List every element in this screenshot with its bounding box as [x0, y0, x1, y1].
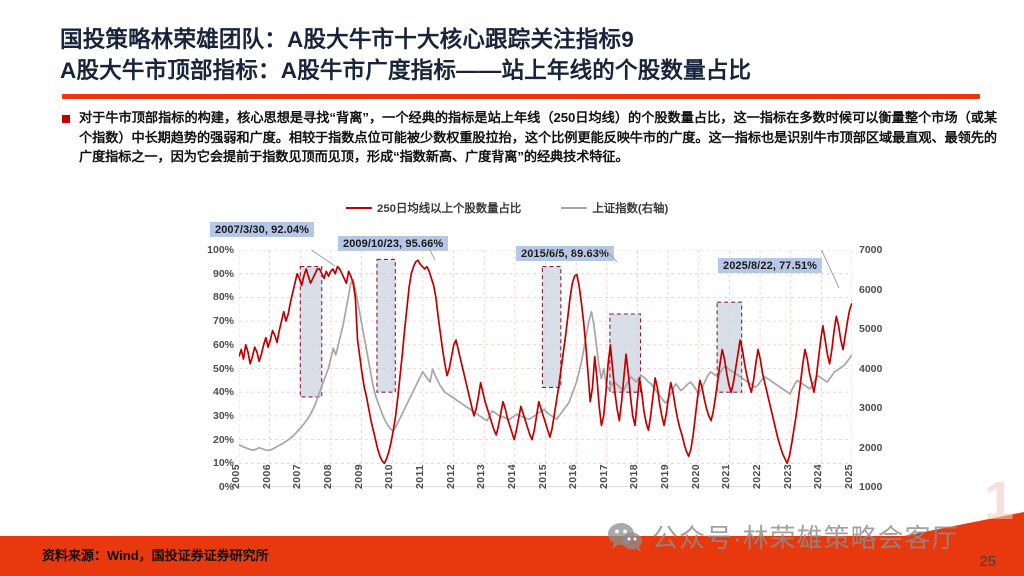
highlight-box [300, 267, 321, 397]
x-axis-tick: 2005 [230, 464, 242, 489]
chart-plot-area: 100%90%80%70%60%50%40%30%20%10%0% 700060… [239, 250, 852, 487]
page-title: 国投策略林荣雄团队：A股大牛市十大核心跟踪关注指标9 A股大牛市顶部指标：A股牛… [60, 24, 990, 86]
x-axis-tick: 2019 [659, 464, 671, 489]
right-axis-tick: 4000 [852, 363, 882, 375]
slide-root: 国投策略林荣雄团队：A股大牛市十大核心跟踪关注指标9 A股大牛市顶部指标：A股牛… [0, 0, 1024, 576]
x-axis-tick: 2013 [475, 464, 487, 489]
left-axis-tick: 70% [213, 315, 239, 327]
legend-label-ratio: 250日均线以上个股数量占比 [377, 200, 521, 216]
x-axis-tick: 2024 [812, 464, 824, 489]
x-axis-tick: 2010 [383, 464, 395, 489]
x-axis-tick: 2020 [690, 464, 702, 489]
right-axis-tick: 7000 [852, 244, 882, 256]
x-axis-tick: 2007 [291, 464, 303, 489]
source-note: 资料来源：Wind，国投证券证券研究所 [42, 545, 269, 564]
title-line-2: A股大牛市顶部指标：A股牛市广度指标——站上年线的个股数量占比 [60, 55, 990, 86]
x-axis-tick: 2014 [506, 464, 518, 489]
page-number: 25 [979, 553, 996, 570]
x-axis-tick: 2023 [782, 464, 794, 489]
highlight-box [542, 267, 560, 388]
x-axis-tick: 2017 [598, 464, 610, 489]
chart-legend: 250日均线以上个股数量占比 上证指数(右轴) [346, 200, 668, 216]
left-axis-tick: 60% [213, 339, 239, 351]
x-axis-tick: 2016 [567, 464, 579, 489]
legend-swatch-gray-icon [561, 207, 587, 210]
x-axis-tick: 2012 [445, 464, 457, 489]
right-axis-tick: 2000 [852, 442, 882, 454]
x-axis-tick: 2022 [751, 464, 763, 489]
annotation-2009: 2009/10/23, 95.66% [338, 236, 448, 251]
decorative-mark: 1 [984, 470, 1016, 532]
highlight-box [377, 259, 395, 392]
annotation-2007: 2007/3/30, 92.04% [210, 222, 314, 237]
left-axis-tick: 100% [207, 244, 239, 256]
x-axis-tick: 2011 [414, 465, 426, 489]
chart-container: 250日均线以上个股数量占比 上证指数(右轴) 2007/3/30, 92.04… [196, 196, 868, 546]
title-line-1: 国投策略林荣雄团队：A股大牛市十大核心跟踪关注指标9 [60, 24, 990, 55]
x-axis-tick: 2018 [628, 464, 640, 489]
bullet-square-icon [62, 115, 70, 123]
chart-highlight-boxes [300, 259, 741, 396]
body-bullet-block: 对于牛市顶部指标的构建，核心思想是寻找“背离”，一个经典的指标是站上年线（250… [62, 108, 997, 167]
left-axis-tick: 30% [213, 410, 239, 422]
left-axis-tick: 50% [213, 363, 239, 375]
legend-item-index: 上证指数(右轴) [561, 200, 668, 216]
highlight-box [717, 302, 742, 392]
legend-item-ratio: 250日均线以上个股数量占比 [346, 200, 521, 216]
legend-swatch-red-icon [346, 207, 372, 210]
legend-label-index: 上证指数(右轴) [592, 200, 668, 216]
right-axis-tick: 6000 [852, 284, 882, 296]
x-axis-tick: 2008 [322, 464, 334, 489]
chart-svg [239, 250, 852, 487]
right-axis-tick: 3000 [852, 402, 882, 414]
x-axis-tick: 2025 [843, 464, 855, 489]
title-underline-bar [62, 94, 980, 99]
left-axis-tick: 80% [213, 291, 239, 303]
x-axis-tick: 2009 [353, 464, 365, 489]
body-paragraph: 对于牛市顶部指标的构建，核心思想是寻找“背离”，一个经典的指标是站上年线（250… [79, 108, 997, 167]
left-axis-tick: 20% [213, 434, 239, 446]
right-axis-tick: 1000 [852, 481, 882, 493]
left-axis-tick: 40% [213, 386, 239, 398]
x-axis-tick: 2015 [537, 464, 549, 489]
left-axis-tick: 90% [213, 268, 239, 280]
x-axis-tick: 2006 [261, 464, 273, 489]
x-axis-tick: 2021 [720, 464, 732, 489]
right-axis-tick: 5000 [852, 323, 882, 335]
